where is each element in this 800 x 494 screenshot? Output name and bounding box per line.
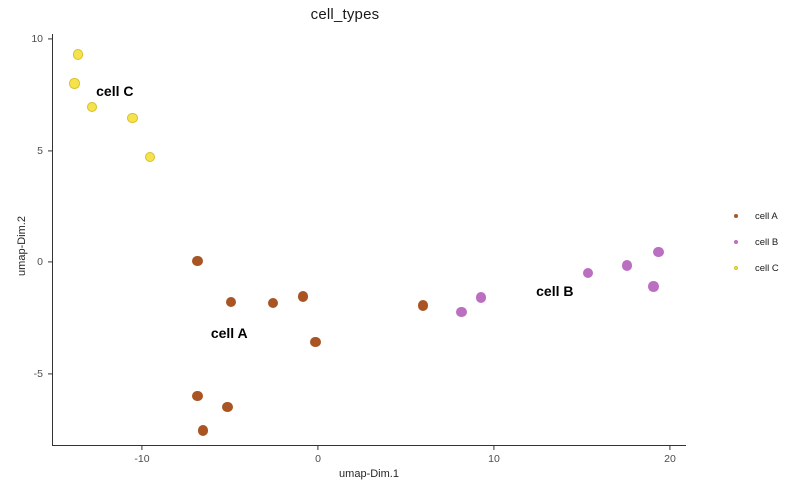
y-tick-label: 10 [31,33,43,45]
legend-item[interactable]: cell A [726,206,778,226]
chart-title: cell_types [0,6,690,23]
plot-panel: cell Ccell Acell B [52,34,686,446]
legend-swatch [726,258,746,278]
legend-label: cell A [755,211,778,222]
x-tick-mark [669,446,670,450]
data-point [73,49,83,59]
scatter-plot-figure: cell_types cell Ccell Acell B 1050-5-100… [0,0,800,494]
legend-dot-icon [734,240,738,244]
x-tick-label: -10 [134,453,149,465]
legend-label: cell B [755,237,778,248]
data-point [622,260,632,270]
data-point [222,402,232,412]
legend-dot-icon [734,214,738,218]
data-point [192,256,202,266]
data-point [310,337,320,347]
data-point [456,307,466,317]
y-tick-label: 5 [37,145,43,157]
data-point [476,292,486,302]
data-point [298,291,308,301]
x-tick-mark [141,446,142,450]
legend-swatch [726,232,746,252]
data-point [648,281,658,291]
y-tick-mark [48,150,52,151]
data-point [226,297,236,307]
cluster-label: cell A [211,325,248,341]
legend-label: cell C [755,263,779,274]
data-point [127,113,137,123]
x-tick-label: 20 [664,453,676,465]
data-point [69,78,79,88]
x-tick-label: 10 [488,453,500,465]
legend-swatch [726,206,746,226]
y-tick-mark [48,373,52,374]
data-point [192,391,202,401]
cluster-label: cell C [96,83,133,99]
data-point [198,425,208,435]
data-point [418,300,428,310]
x-tick-mark [493,446,494,450]
y-tick-mark [48,261,52,262]
legend-item[interactable]: cell B [726,232,778,252]
x-axis-title: umap-Dim.1 [52,468,686,480]
y-tick-mark [48,38,52,39]
data-point [145,152,155,162]
legend-item[interactable]: cell C [726,258,779,278]
cluster-label: cell B [536,283,573,299]
data-point [268,298,278,308]
data-point [583,268,593,278]
y-axis-title: umap-Dim.2 [16,186,28,306]
y-tick-label: -5 [34,368,43,380]
x-tick-mark [317,446,318,450]
y-tick-label: 0 [37,256,43,268]
legend-dot-icon [734,266,738,270]
x-tick-label: 0 [315,453,321,465]
data-point [87,102,97,112]
data-point [653,247,663,257]
